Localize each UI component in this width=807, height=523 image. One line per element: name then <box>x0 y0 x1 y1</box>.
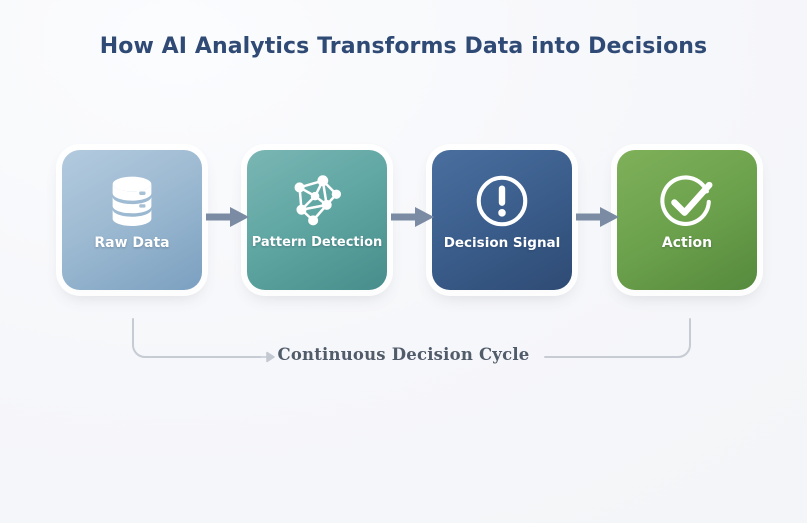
flow-step-label: Raw Data <box>94 236 169 251</box>
flow-step-label: Decision Signal <box>444 236 561 251</box>
flow-step-action[interactable]: Action <box>617 150 757 290</box>
database-icon <box>101 170 163 232</box>
flow-step-pattern-detection[interactable]: Pattern Detection <box>247 150 387 290</box>
flow-step-raw-data[interactable]: Raw Data <box>62 150 202 290</box>
flow-step-label: Action <box>662 236 712 251</box>
diagram-canvas: How AI Analytics Transforms Data into De… <box>0 0 807 523</box>
flow-step-label: Pattern Detection <box>252 236 383 250</box>
connector-arrow-3 <box>576 205 620 229</box>
check-circle-icon <box>656 170 718 232</box>
connector-arrow-1 <box>206 205 250 229</box>
connector-arrow-2 <box>391 205 435 229</box>
cycle-label: Continuous Decision Cycle <box>0 345 807 364</box>
exclamation-circle-icon <box>471 170 533 232</box>
flow-step-decision-signal[interactable]: Decision Signal <box>432 150 572 290</box>
network-graph-icon <box>286 170 348 232</box>
page-title: How AI Analytics Transforms Data into De… <box>0 34 807 59</box>
